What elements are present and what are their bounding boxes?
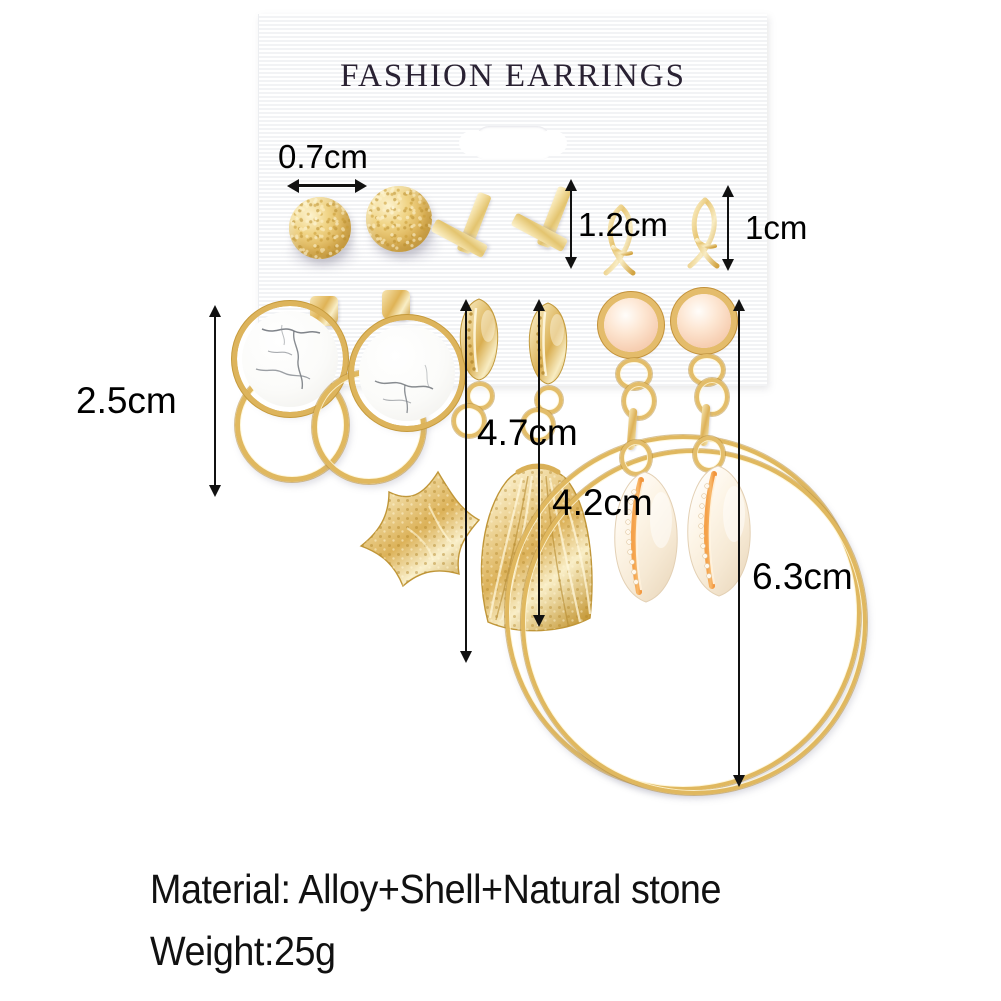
dimension-label-4-2cm: 4.2cm [552, 482, 653, 524]
opal-stud-left [604, 298, 658, 352]
opal-chain-link-right-2 [695, 378, 729, 416]
opal-stud-right [677, 294, 731, 348]
dimension-label-1-2cm: 1.2cm [578, 206, 668, 244]
gold-shell-charm-right [519, 300, 573, 392]
dimension-arrow-2-5cm [214, 316, 216, 486]
dimension-arrow-6-3cm [738, 310, 740, 776]
fish-stud-right [681, 196, 727, 270]
ball-stud-right [366, 186, 432, 252]
material-line: Material: Alloy+Shell+Natural stone [150, 858, 721, 920]
gold-shell-charm-left [450, 296, 504, 388]
marble-hoop-earring-right [312, 290, 448, 480]
dimension-label-1cm: 1cm [745, 209, 807, 247]
ball-stud-left [289, 197, 351, 259]
dimension-arrow-4-2cm [538, 310, 540, 616]
weight-line: Weight:25g [150, 920, 721, 982]
dimension-arrow-0-7cm [298, 184, 356, 187]
page-title: FASHION EARRINGS [259, 58, 767, 95]
dimension-label-2-5cm: 2.5cm [76, 380, 177, 422]
dimension-arrow-1cm [727, 196, 729, 260]
dimension-label-0-7cm: 0.7cm [278, 138, 368, 176]
opal-chain-link-left-2 [622, 382, 656, 420]
dimension-arrow-4-7cm [465, 310, 467, 652]
dimension-label-4-7cm: 4.7cm [477, 412, 578, 454]
cowrie-shell-right [676, 462, 762, 602]
product-image: FASHION EARRINGS [0, 0, 1001, 1001]
dimension-arrow-1-2cm [570, 190, 572, 258]
marble-stone-right [354, 320, 460, 426]
vee-stud-left [442, 188, 520, 264]
spec-block: Material: Alloy+Shell+Natural stone Weig… [150, 858, 771, 982]
dimension-label-6-3cm: 6.3cm [752, 556, 853, 598]
card-hang-slot [473, 126, 553, 160]
